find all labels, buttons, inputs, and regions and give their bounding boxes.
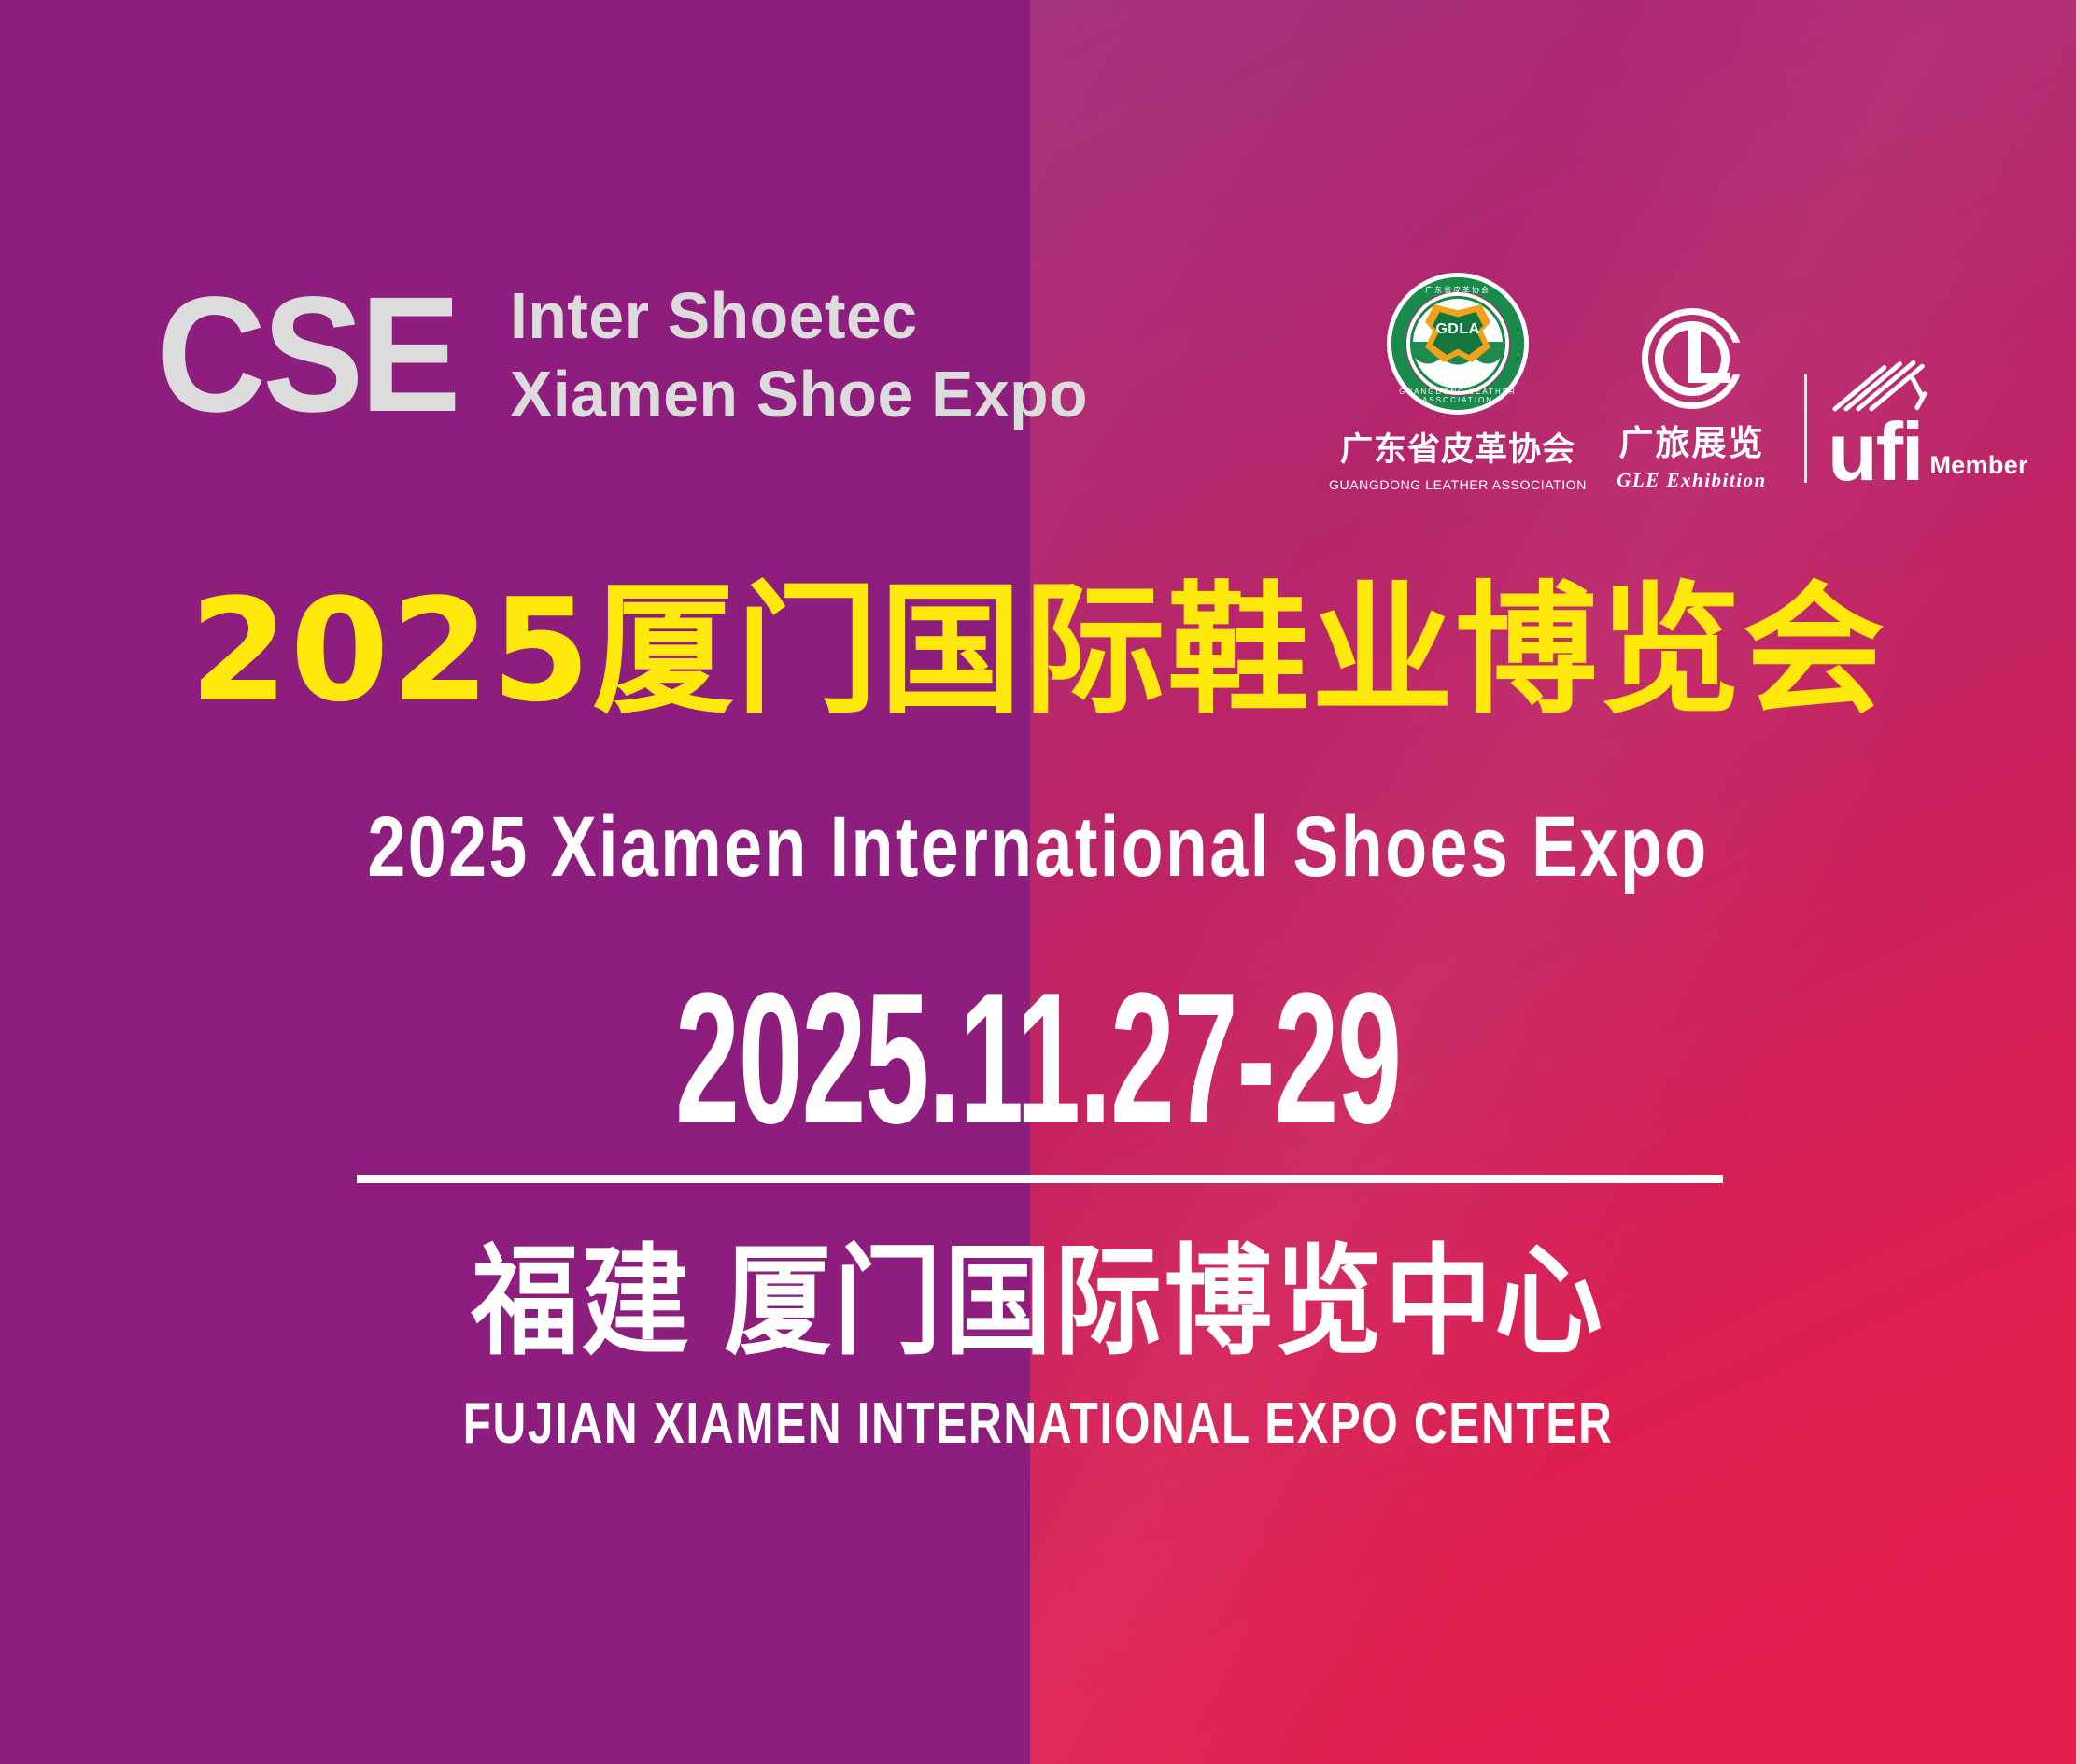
cse-wordmark: Inter Shoetec Xiamen Shoe Expo xyxy=(510,276,1106,433)
gle-name-en: GLE Exhibition xyxy=(1617,469,1766,492)
ufi-swoosh-icon xyxy=(1833,367,1943,419)
expo-poster: CSE Inter Shoetec Xiamen Shoe Expo 广东省皮革… xyxy=(0,0,2076,1764)
horizontal-divider xyxy=(357,1175,1723,1183)
ufi-member-label: Member xyxy=(1930,451,2028,488)
cse-wordmark-line1: Inter Shoetec xyxy=(510,276,1088,355)
gdla-emblem-icon: 广东省皮革协会 GDLA GUANGDONG LEATHER ASSOCIATI… xyxy=(1387,273,1529,415)
event-subtitle-en: 2025 Xiamen International Shoes Expo xyxy=(207,796,1868,898)
cse-wordmark-line2: Xiamen Shoe Expo xyxy=(510,355,1088,433)
event-venue-cn: 福建 厦门国际博览中心 xyxy=(104,1233,1972,1373)
partner-logo-group: 广东省皮革协会 GDLA GUANGDONG LEATHER ASSOCIATI… xyxy=(1359,273,2028,492)
gle-name-cn: 广旅展览 xyxy=(1619,415,1765,465)
gdla-name-en: GUANGDONG LEATHER ASSOCIATION xyxy=(1329,477,1587,492)
ufi-logo: ufi Member xyxy=(1828,367,2028,492)
ufi-wordmark: ufi xyxy=(1828,416,1923,488)
gdla-arc-top-text: 广东省皮革协会 xyxy=(1387,285,1529,295)
gle-monogram-icon xyxy=(1642,308,1743,409)
gle-l-horizontal xyxy=(1688,373,1730,383)
event-headline-cn: 2025厦门国际鞋业博览会 xyxy=(0,572,2076,730)
gdla-emblem-label: GDLA xyxy=(1387,321,1529,338)
event-dates: 2025.11.27-29 xyxy=(394,962,1681,1156)
gdla-arc-bottom-text: GUANGDONG LEATHER ASSOCIATION xyxy=(1387,388,1529,404)
event-venue-en: FUJIAN XIAMEN INTERNATIONAL EXPO CENTER xyxy=(207,1390,1868,1459)
partner-divider xyxy=(1804,374,1807,483)
gdla-name-cn: 广东省皮革协会 xyxy=(1340,423,1575,471)
cse-logo: CSE Inter Shoetec Xiamen Shoe Expo xyxy=(157,276,1106,433)
cse-abbreviation: CSE xyxy=(157,276,458,433)
gle-logo: 广旅展览 GLE Exhibition xyxy=(1596,308,1787,492)
gdla-logo: 广东省皮革协会 GDLA GUANGDONG LEATHER ASSOCIATI… xyxy=(1359,273,1557,492)
poster-header: CSE Inter Shoetec Xiamen Shoe Expo 广东省皮革… xyxy=(0,276,2076,463)
ufi-wordmark-row: ufi Member xyxy=(1828,416,2028,488)
